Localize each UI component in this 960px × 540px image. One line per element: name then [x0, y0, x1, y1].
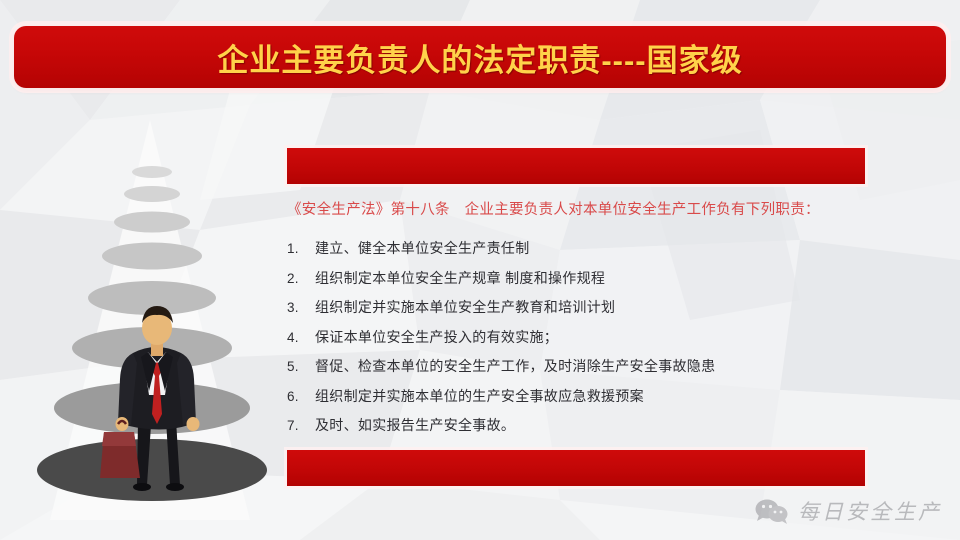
list-item-number: 5. [287, 353, 315, 382]
intro-paragraph: 《安全生产法》第十八条 企业主要负责人对本单位安全生产工作负有下列职责： [287, 196, 877, 224]
list-item: 7.及时、如实报告生产安全事故。 [287, 411, 877, 441]
list-item-text: 督促、检查本单位的安全生产工作，及时消除生产安全事故隐患 [315, 352, 877, 381]
wechat-icon [755, 498, 789, 524]
list-item-text: 组织制定并实施本单位安全生产教育和培训计划 [315, 293, 877, 322]
list-item-number: 3. [287, 294, 315, 323]
list-item: 4.保证本单位安全生产投入的有效实施； [287, 323, 877, 353]
list-item-text: 保证本单位安全生产投入的有效实施； [315, 323, 877, 352]
content-block: 《安全生产法》第十八条 企业主要负责人对本单位安全生产工作负有下列职责： 1.建… [287, 196, 877, 441]
list-item-text: 建立、健全本单位安全生产责任制 [315, 234, 877, 263]
red-divider-bar-top [287, 148, 865, 184]
list-item-number: 7. [287, 412, 315, 441]
list-item-number: 2. [287, 265, 315, 294]
list-item-number: 6. [287, 383, 315, 412]
list-item: 1.建立、健全本单位安全生产责任制 [287, 234, 877, 264]
list-item-number: 1. [287, 235, 315, 264]
watermark-text: 每日安全生产 [798, 496, 942, 526]
list-item: 6.组织制定并实施本单位的生产安全事故应急救援预案 [287, 382, 877, 412]
page-title: 企业主要负责人的法定职责----国家级 [217, 35, 742, 80]
slide-canvas: 企业主要负责人的法定职责----国家级 《安全生产法》第十八条 企业主要负责人对… [0, 0, 960, 540]
duty-list: 1.建立、健全本单位安全生产责任制2.组织制定本单位安全生产规章 制度和操作规程… [287, 234, 877, 441]
list-item: 3.组织制定并实施本单位安全生产教育和培训计划 [287, 293, 877, 323]
list-item-text: 组织制定本单位安全生产规章 制度和操作规程 [315, 264, 877, 293]
list-item-text: 组织制定并实施本单位的生产安全事故应急救援预案 [315, 382, 877, 411]
businessman-illustration [0, 120, 300, 520]
watermark: 每日安全生产 [755, 496, 942, 526]
red-divider-bar-bottom [287, 450, 865, 486]
title-banner: 企业主要负责人的法定职责----国家级 [14, 26, 946, 88]
list-item: 5.督促、检查本单位的安全生产工作，及时消除生产安全事故隐患 [287, 352, 877, 382]
list-item: 2.组织制定本单位安全生产规章 制度和操作规程 [287, 264, 877, 294]
list-item-number: 4. [287, 324, 315, 353]
list-item-text: 及时、如实报告生产安全事故。 [315, 411, 877, 440]
